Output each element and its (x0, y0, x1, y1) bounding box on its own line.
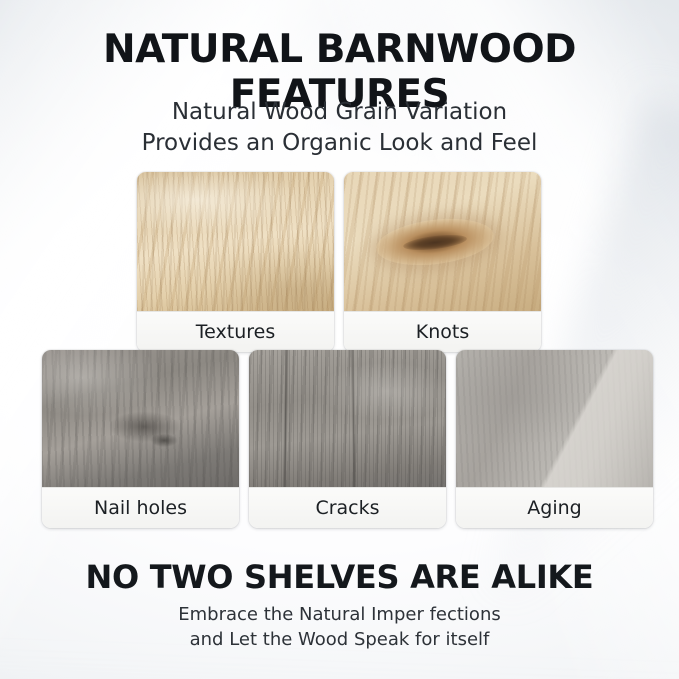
knot-detail (373, 212, 495, 270)
feature-row-bottom: Nail holes Cracks Aging (42, 350, 653, 528)
infographic-canvas: NATURAL BARNWOOD FEATURES Natural Wood G… (0, 0, 679, 679)
aged-wood-photo (456, 350, 653, 487)
subtitle-line-2: Provides an Organic Look and Feel (0, 128, 679, 159)
feature-tile-cracks: Cracks (249, 350, 446, 528)
feature-caption-aging: Aging (456, 487, 653, 528)
subtitle: Natural Wood Grain Variation Provides an… (0, 97, 679, 159)
subtitle-line-1: Natural Wood Grain Variation (0, 97, 679, 128)
wood-grain-texture-photo (137, 172, 334, 311)
feature-caption-cracks: Cracks (249, 487, 446, 528)
feature-tile-knots: Knots (344, 172, 541, 352)
feature-tile-aging: Aging (456, 350, 653, 528)
feature-row-top: Textures Knots (137, 172, 541, 352)
footer-text: Embrace the Natural Imper fections and L… (0, 602, 679, 652)
feature-caption-knots: Knots (344, 311, 541, 352)
footer-line-2: and Let the Wood Speak for itself (0, 627, 679, 652)
feature-caption-textures: Textures (137, 311, 334, 352)
feature-tile-textures: Textures (137, 172, 334, 352)
footer-headline: NO TWO SHELVES ARE ALIKE (0, 558, 679, 596)
feature-caption-nail-holes: Nail holes (42, 487, 239, 528)
footer-line-1: Embrace the Natural Imper fections (0, 602, 679, 627)
cracked-wood-photo (249, 350, 446, 487)
nail-hole-wood-photo (42, 350, 239, 487)
feature-tile-nail-holes: Nail holes (42, 350, 239, 528)
wood-knot-photo (344, 172, 541, 311)
